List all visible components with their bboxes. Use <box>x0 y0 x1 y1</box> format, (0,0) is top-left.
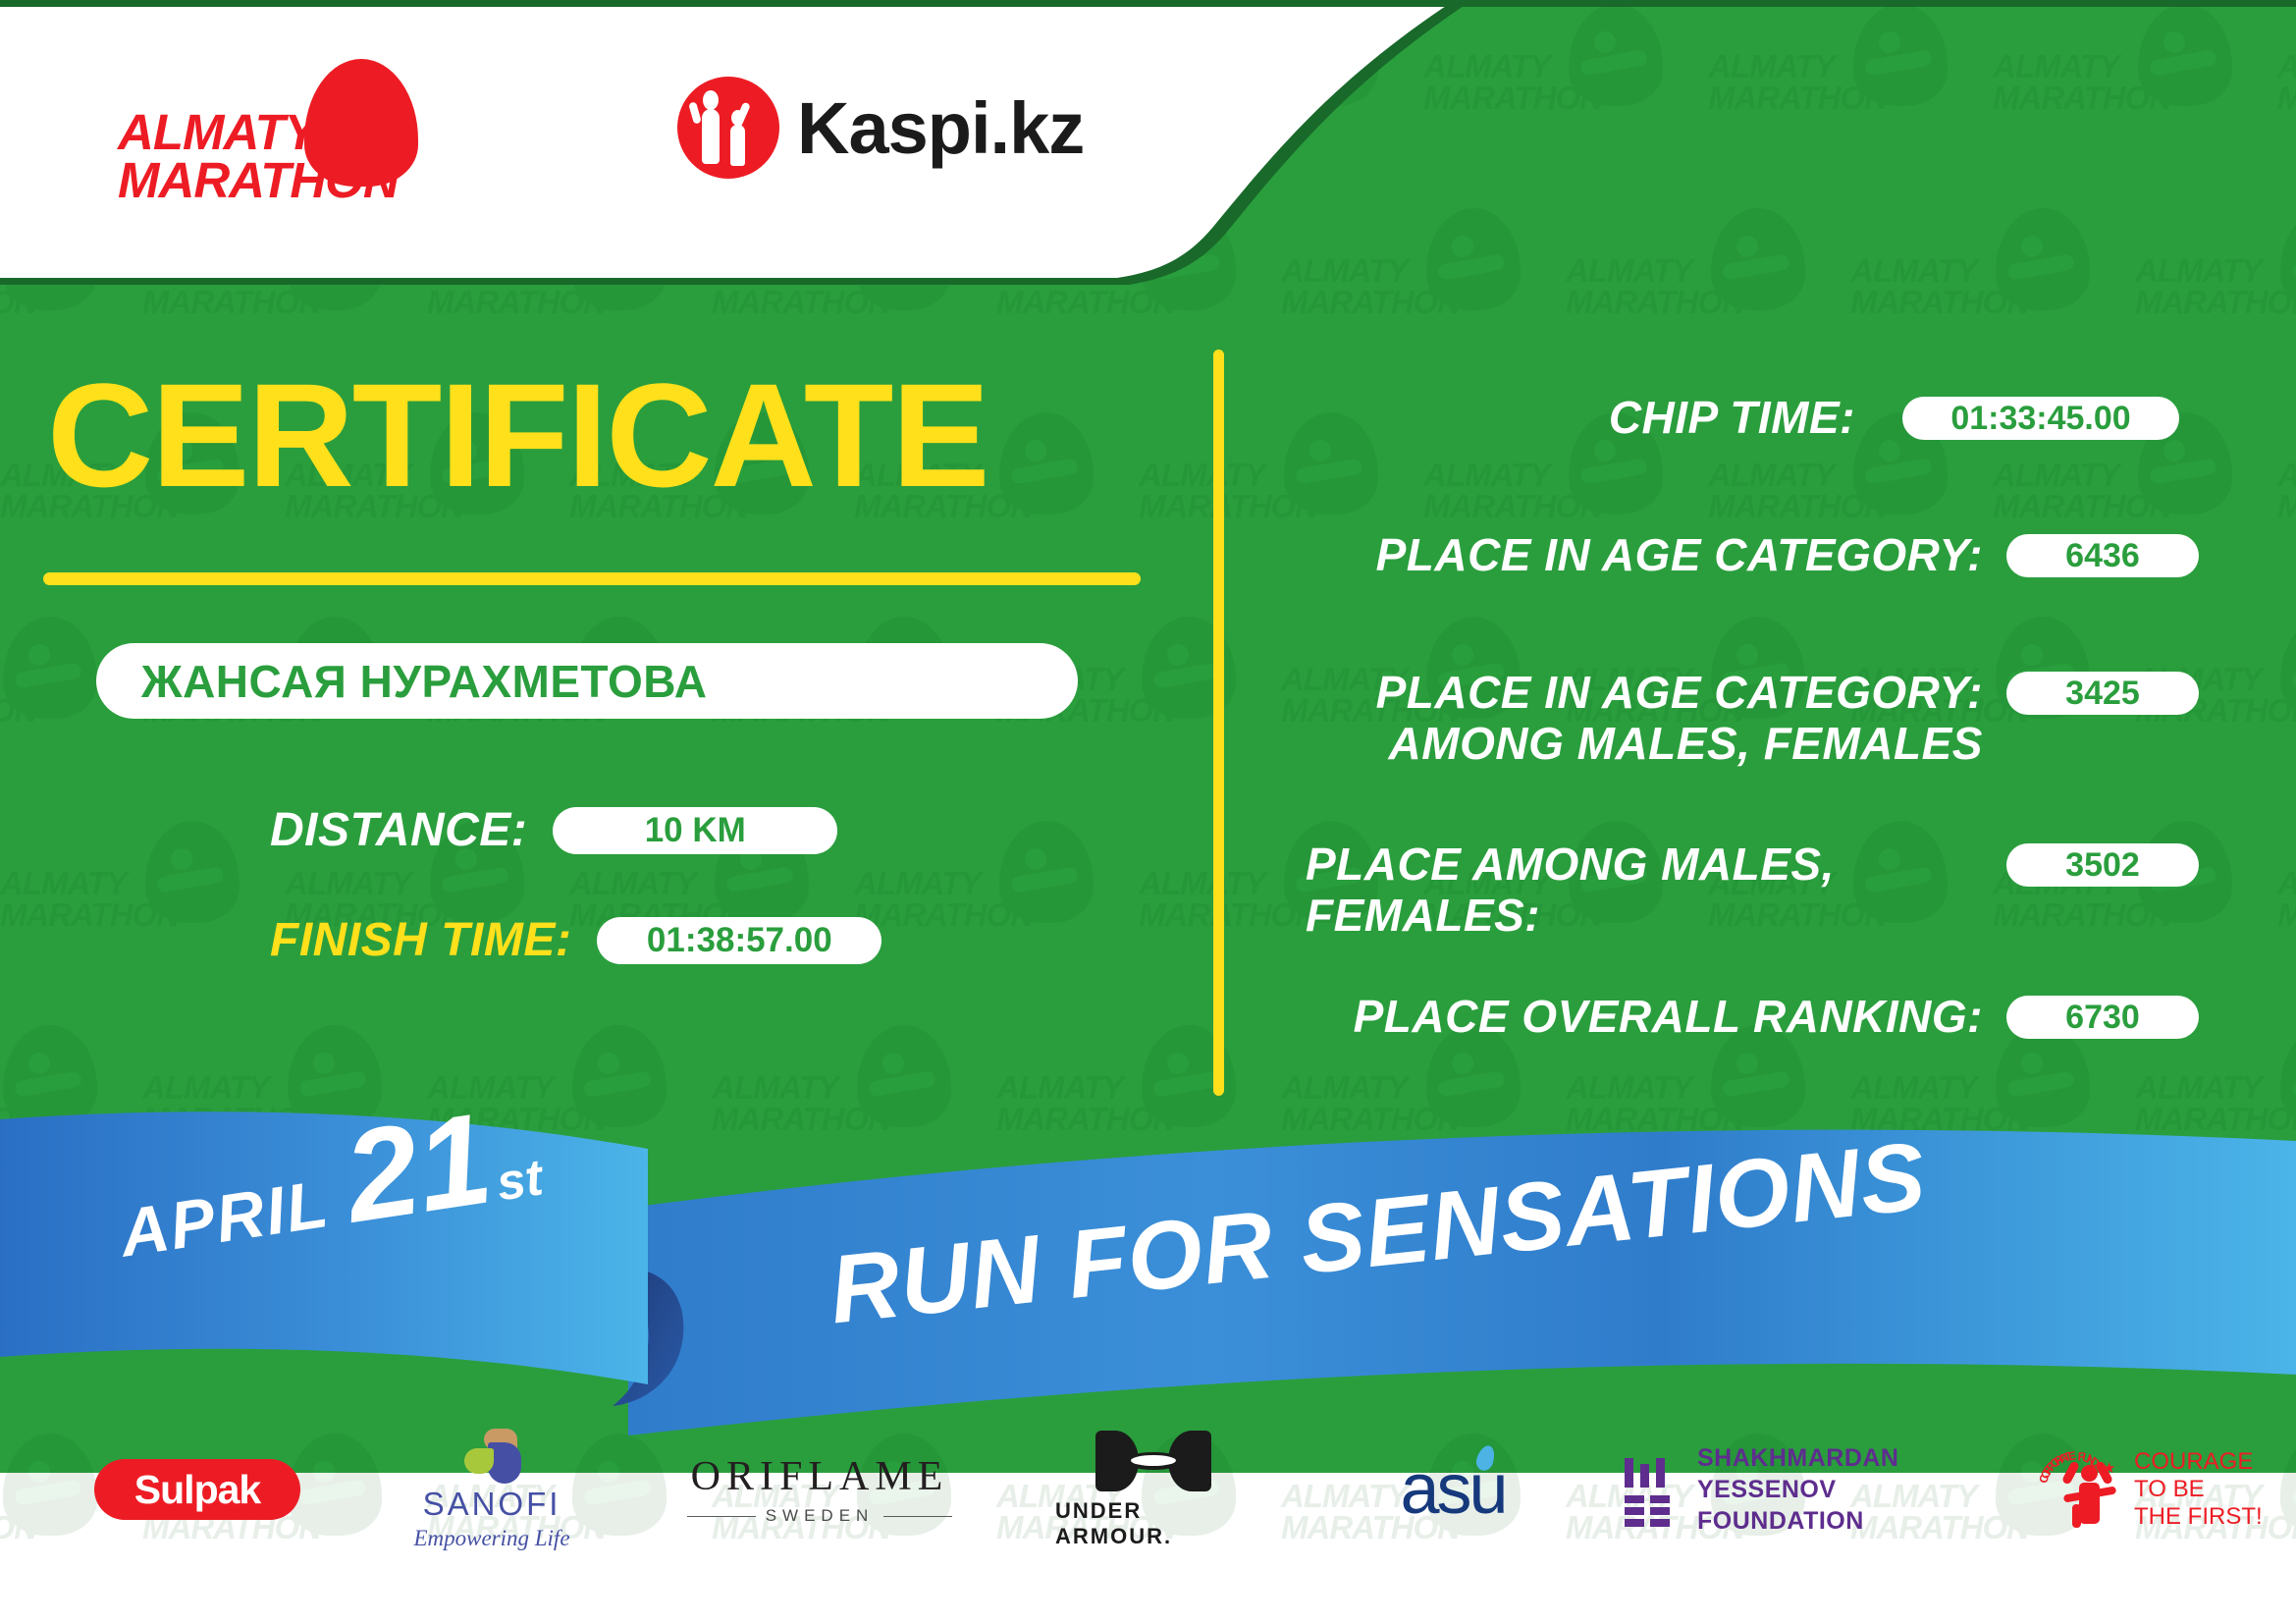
header-band: ALMATY MARATHON Kaspi.kz <box>0 0 2296 285</box>
kaspi-adult-arm-icon <box>688 101 702 124</box>
distance-value-pill: 10 KM <box>553 807 837 854</box>
place-age-category-gender-row: PLACE IN AGE CATEGORY:AMONG MALES, FEMAL… <box>1306 668 2199 769</box>
sulpak-wordmark: Sulpak <box>94 1459 300 1520</box>
finish-time-value: 01:38:57.00 <box>647 921 832 960</box>
chip-time-label: CHIP TIME: <box>1306 393 1855 444</box>
almaty-marathon-wordmark: ALMATY MARATHON <box>118 108 363 205</box>
chip-time-value: 01:33:45.00 <box>1950 400 2130 438</box>
almaty-marathon-logo: ALMATY MARATHON <box>118 59 442 216</box>
yessenov-bar-icon <box>1625 1495 1644 1503</box>
event-day: 21 <box>337 1093 499 1242</box>
watermark-text: ALMATYMARATHON <box>2277 868 2296 932</box>
sponsor-logos-row: Sulpak SANOFI Empowering Life ORIFLAME S… <box>0 1426 2296 1612</box>
runner-head-icon <box>522 81 547 105</box>
title-underline <box>43 572 1141 585</box>
oriflame-country: SWEDEN <box>766 1506 875 1526</box>
watermark-text: ALMATYMARATHON <box>2277 460 2296 523</box>
place-age-category-gender-value: 3425 <box>2065 675 2140 713</box>
place-overall-ranking-row: PLACE OVERALL RANKING: 6730 <box>1306 992 2199 1043</box>
almaty-marathon-line1: ALMATY <box>118 108 363 156</box>
kaspi-adult-head-icon <box>703 90 719 110</box>
yessenov-foundation-icon <box>1625 1458 1680 1521</box>
place-among-gender-row: PLACE AMONG MALES,FEMALES: 3502 <box>1306 839 2199 941</box>
under-armour-center-hole-icon <box>1131 1455 1176 1466</box>
kaspi-logo: Kaspi.kz <box>677 74 1084 182</box>
sanofi-green-leaf-icon <box>464 1448 494 1474</box>
top-accent-bar <box>0 0 2296 7</box>
chip-time-value-pill: 01:33:45.00 <box>1902 397 2179 440</box>
place-age-category-gender-value-pill: 3425 <box>2006 672 2199 715</box>
yessenov-bar-icon <box>1656 1458 1665 1488</box>
sponsor-under-armour: UNDER ARMOUR. <box>1055 1426 1252 1553</box>
certificate-page: ALMATYMARATHONALMATYMARATHONALMATYMARATH… <box>0 0 2296 1624</box>
sanofi-wordmark: SANOFI <box>423 1486 561 1523</box>
place-overall-ranking-value-pill: 6730 <box>2006 996 2199 1039</box>
watermark-drop-icon <box>999 821 1094 923</box>
sanofi-tagline: Empowering Life <box>413 1526 569 1551</box>
watermark-tile: ALMATYMARATHON <box>2277 408 2296 613</box>
oriflame-rule-right <box>883 1516 952 1517</box>
page-title: CERTIFICATE <box>47 361 988 509</box>
place-age-category-gender-label: PLACE IN AGE CATEGORY:AMONG MALES, FEMAL… <box>1306 668 1983 769</box>
place-age-category-value-pill: 6436 <box>2006 534 2199 577</box>
yessenov-bar-icon <box>1640 1464 1649 1488</box>
participant-name-field: ЖАНСАЯ НУРАХМЕТОВА <box>96 643 1078 719</box>
courage-line1: COURAGE <box>2134 1448 2263 1476</box>
yessenov-bar-icon <box>1625 1458 1633 1488</box>
courage-leg-icon <box>2072 1504 2081 1528</box>
column-divider <box>1213 350 1224 1096</box>
yessenov-line2: FOUNDATION <box>1697 1505 2037 1537</box>
chip-time-row: CHIP TIME: 01:33:45.00 <box>1306 393 2179 444</box>
under-armour-icon <box>1095 1431 1211 1491</box>
kaspi-child-body-icon <box>730 125 745 166</box>
sponsor-courage-to-be-the-first: CORPORATE FUND ★ COURAGE TO BE THE FIRST… <box>2034 1426 2289 1553</box>
place-among-gender-value-pill: 3502 <box>2006 843 2199 887</box>
sponsor-sulpak: Sulpak <box>94 1426 300 1553</box>
yessenov-bar-icon <box>1650 1495 1670 1503</box>
courage-line2: TO BE <box>2134 1476 2263 1503</box>
kaspi-people-circle-icon <box>677 77 779 179</box>
watermark-tile: ALMATYMARATHON <box>0 817 285 1021</box>
oriflame-sub: SWEDEN <box>687 1506 952 1526</box>
watermark-tile: ALMATYMARATHON <box>2277 817 2296 1021</box>
kaspi-wordmark: Kaspi.kz <box>797 86 1084 170</box>
participant-name-value: ЖАНСАЯ НУРАХМЕТОВА <box>141 655 707 708</box>
courage-head-icon <box>2081 1465 2098 1482</box>
finish-time-value-pill: 01:38:57.00 <box>597 917 881 964</box>
distance-label: DISTANCE: <box>270 803 527 857</box>
yessenov-line1: SHAKHMARDAN YESSENOV <box>1697 1442 2037 1505</box>
place-age-category-row: PLACE IN AGE CATEGORY: 6436 <box>1306 530 2199 581</box>
oriflame-rule-left <box>687 1516 756 1517</box>
watermark-tile: ALMATYMARATHON <box>854 817 1139 1021</box>
place-age-category-value: 6436 <box>2065 537 2140 575</box>
place-age-category-label: PLACE IN AGE CATEGORY: <box>1306 530 1983 581</box>
distance-value: 10 KM <box>645 811 746 850</box>
yessenov-foundation-wordmark: SHAKHMARDAN YESSENOV FOUNDATION <box>1697 1442 2037 1537</box>
sponsor-yessenov-foundation: SHAKHMARDAN YESSENOV FOUNDATION <box>1625 1426 2037 1553</box>
place-among-gender-label: PLACE AMONG MALES,FEMALES: <box>1306 839 1983 941</box>
place-among-gender-value: 3502 <box>2065 846 2140 885</box>
oriflame-wordmark: ORIFLAME <box>691 1453 949 1500</box>
sanofi-icon <box>458 1429 525 1482</box>
courage-line3: THE FIRST! <box>2134 1503 2263 1531</box>
place-overall-ranking-label: PLACE OVERALL RANKING: <box>1306 992 1983 1043</box>
event-day-suffix: st <box>493 1148 547 1213</box>
watermark-drop-icon <box>999 412 1094 514</box>
courage-child-figure-icon: ★ <box>2067 1459 2112 1528</box>
yessenov-bar-icon <box>1650 1507 1670 1515</box>
sponsor-sanofi: SANOFI Empowering Life <box>389 1426 595 1553</box>
under-armour-wordmark: UNDER ARMOUR. <box>1055 1498 1252 1549</box>
yessenov-bar-icon <box>1625 1507 1644 1515</box>
sponsor-asu: asu <box>1360 1426 1546 1553</box>
yessenov-bar-icon <box>1650 1519 1670 1527</box>
watermark-drop-icon <box>145 821 240 923</box>
distance-row: DISTANCE: 10 KM <box>270 803 837 857</box>
asu-wordmark: asu <box>1400 1449 1505 1530</box>
finish-time-row: FINISH TIME: 01:38:57.00 <box>270 913 881 967</box>
yessenov-bar-icon <box>1625 1519 1644 1527</box>
courage-wordmark: COURAGE TO BE THE FIRST! <box>2134 1448 2263 1532</box>
courage-fund-icon: CORPORATE FUND ★ <box>2034 1443 2126 1536</box>
sponsor-oriflame: ORIFLAME SWEDEN <box>687 1426 952 1553</box>
almaty-marathon-line2: MARATHON <box>118 156 363 204</box>
watermark-drop-icon <box>3 617 97 719</box>
finish-time-label: FINISH TIME: <box>270 913 571 967</box>
place-overall-ranking-value: 6730 <box>2065 999 2140 1037</box>
kaspi-adult-body-icon <box>702 109 720 164</box>
